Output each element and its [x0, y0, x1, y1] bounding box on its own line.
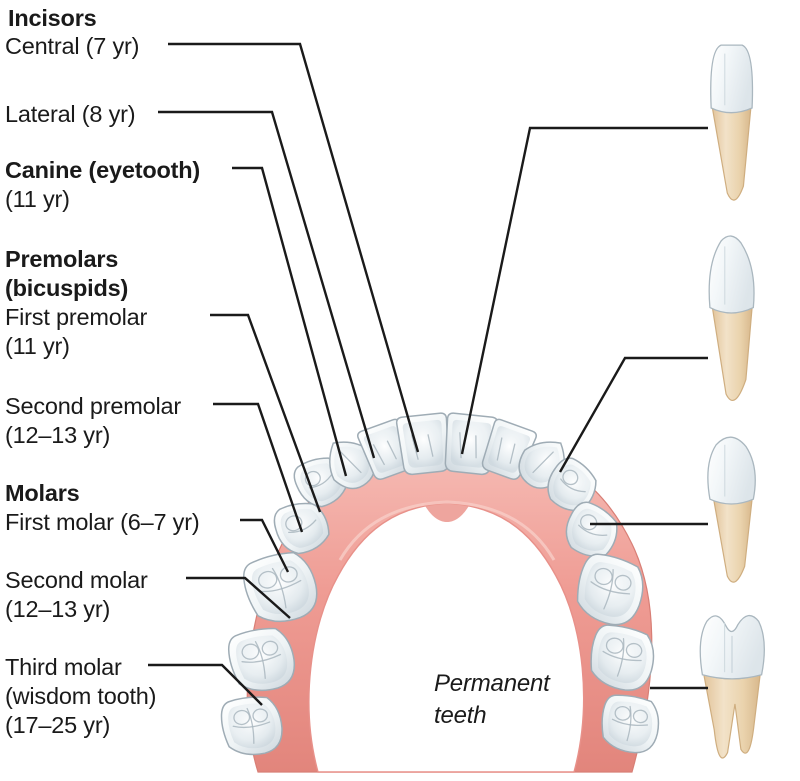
- tooth-crown: [709, 236, 754, 313]
- label-third-molar-age: (17–25 yr): [5, 711, 110, 740]
- label-premolars-heading1: Premolars: [5, 245, 118, 274]
- label-incisors-heading: Incisors: [8, 4, 97, 33]
- tooth-root: [712, 308, 752, 401]
- tooth-root: [714, 499, 752, 582]
- label-third-molar: Third molar: [5, 653, 122, 682]
- tooth-root: [712, 108, 750, 200]
- isolated-premolar: [708, 437, 755, 582]
- isolated-incisor: [711, 45, 753, 200]
- label-canine-age: (11 yr): [5, 185, 70, 214]
- label-second-premolar-age: (12–13 yr): [5, 421, 110, 450]
- permanent-teeth-figure: IncisorsCentral (7 yr)Lateral (8 yr)Cani…: [0, 0, 800, 781]
- label-premolars-heading2: (bicuspids): [5, 274, 128, 303]
- leader-tooth-canine: [560, 358, 708, 472]
- tooth-crown: [708, 437, 755, 504]
- label-lateral-incisor: Lateral (8 yr): [5, 100, 135, 129]
- label-central-incisor: Central (7 yr): [5, 32, 139, 61]
- label-second-molar: Second molar: [5, 566, 148, 595]
- leader-central-incisor: [168, 44, 418, 452]
- tooth-crown: [711, 45, 753, 113]
- isolated-teeth-group: [700, 45, 764, 758]
- label-molars-heading: Molars: [5, 479, 80, 508]
- label-first-molar: First molar (6–7 yr): [5, 508, 199, 537]
- label-canine: Canine (eyetooth): [5, 156, 200, 185]
- tooth-root: [704, 675, 760, 758]
- center-caption: Permanent teeth: [434, 668, 550, 732]
- arch-tooth-ur-central: [396, 413, 452, 476]
- isolated-canine: [709, 236, 754, 400]
- label-first-premolar-age: (11 yr): [5, 332, 70, 361]
- label-second-premolar: Second premolar: [5, 392, 181, 421]
- leader-tooth-incisor: [462, 128, 708, 454]
- isolated-molar: [700, 616, 764, 758]
- label-second-molar-age: (12–13 yr): [5, 595, 110, 624]
- label-third-molar-note: (wisdom tooth): [5, 682, 156, 711]
- label-first-premolar: First premolar: [5, 303, 147, 332]
